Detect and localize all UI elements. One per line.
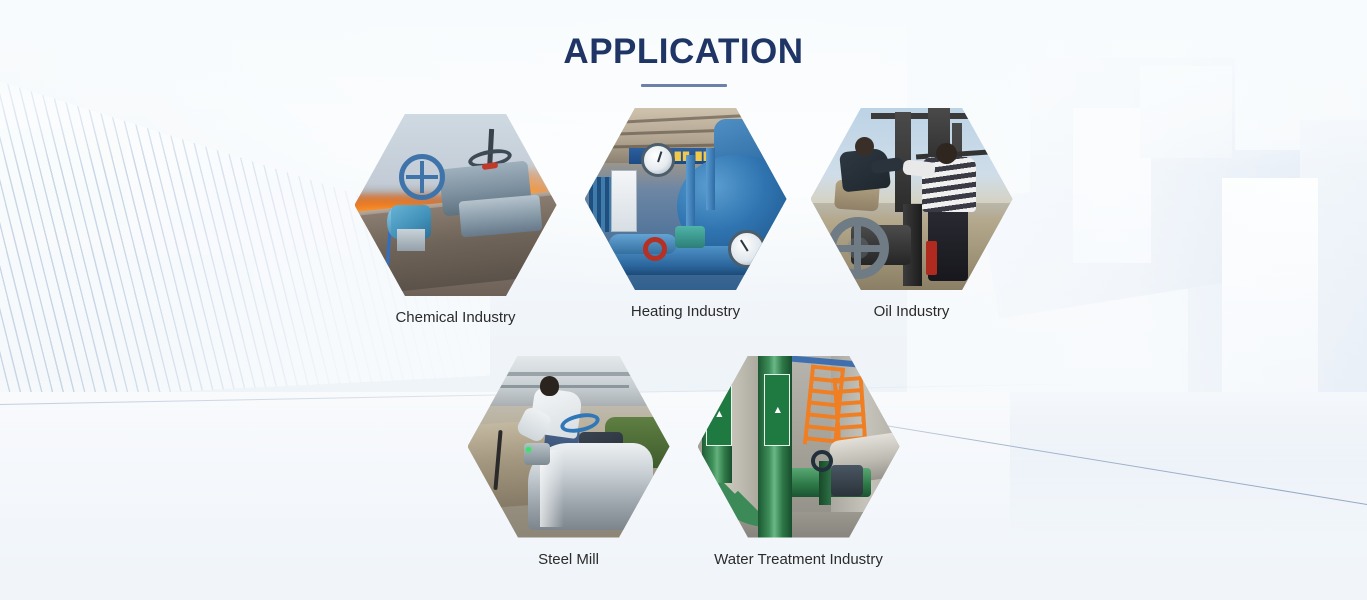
hexagon-frame[interactable]: ██ ██ ██ (585, 108, 787, 290)
pipe-label-supply: ▲ (706, 381, 732, 447)
application-row-2: Steel Mill (0, 356, 1367, 570)
worker-right-head (936, 143, 957, 164)
vertical-pipe (706, 148, 715, 210)
worker-right-arm (903, 159, 937, 177)
teal-valve (675, 226, 705, 248)
worker-head (540, 376, 559, 396)
application-card-oil-industry[interactable]: Oil Industry (809, 108, 1015, 322)
red-marker (926, 241, 937, 275)
application-label: Chemical Industry (395, 308, 515, 328)
hexagon-frame[interactable] (811, 108, 1013, 290)
application-row-1: Chemical Industry ██ ██ ██ (0, 108, 1367, 328)
chemical-industry-photo (355, 114, 557, 296)
title-underline (641, 84, 727, 87)
blue-handwheel-icon (399, 154, 445, 200)
overhead-rail (476, 372, 662, 376)
control-cabinet (611, 170, 637, 232)
section-header: APPLICATION (0, 30, 1367, 87)
application-card-water-treatment-industry[interactable]: ▲ ▲ Water Treatment Industry (696, 356, 902, 570)
page-title: APPLICATION (0, 30, 1367, 74)
application-label: Water Treatment Industry (714, 550, 883, 570)
hexagon-frame[interactable] (468, 356, 670, 538)
plant-floor (698, 512, 900, 537)
vertical-pipe (686, 155, 695, 228)
valve-handwheel-icon (827, 217, 889, 279)
pipe-label-return: ▲ (764, 374, 790, 447)
steel-frame-bar (871, 113, 976, 119)
valve-lower-body (458, 194, 542, 237)
application-section: APPLICATION (0, 0, 1367, 600)
status-led-icon (526, 447, 531, 452)
application-card-heating-industry[interactable]: ██ ██ ██ Heating (583, 108, 789, 322)
application-label: Steel Mill (538, 550, 599, 570)
pressure-gauge-icon (641, 143, 675, 177)
water-treatment-photo: ▲ ▲ (698, 356, 900, 538)
pump-motor (831, 465, 863, 496)
hexagon-frame[interactable]: ▲ ▲ (698, 356, 900, 538)
transmitter-manifold (397, 229, 425, 251)
steel-mill-photo (468, 356, 670, 538)
application-label: Heating Industry (631, 302, 740, 322)
application-label: Oil Industry (874, 302, 950, 322)
pressure-gauge-icon (728, 230, 766, 268)
application-grid: Chemical Industry ██ ██ ██ (0, 108, 1367, 569)
application-card-steel-mill[interactable]: Steel Mill (466, 356, 672, 570)
application-card-chemical-industry[interactable]: Chemical Industry (353, 114, 559, 328)
valve-handwheel-icon (811, 450, 833, 472)
hexagon-frame[interactable] (355, 114, 557, 296)
heating-industry-photo: ██ ██ ██ (585, 108, 787, 290)
red-handwheel-icon (643, 237, 667, 261)
worker-left-head (855, 137, 874, 156)
oil-industry-photo (811, 108, 1013, 290)
